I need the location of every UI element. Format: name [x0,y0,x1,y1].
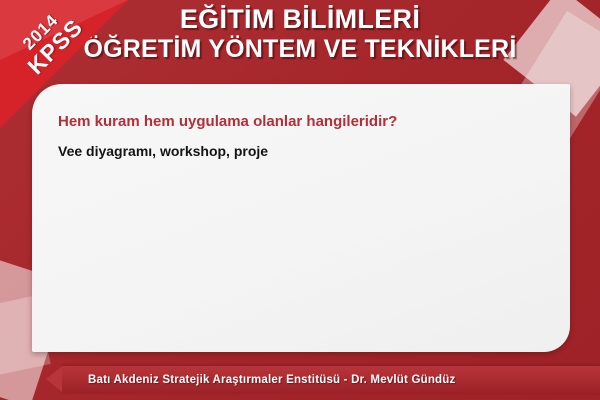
content-card-body: Hem kuram hem uygulama olanlar hangileri… [58,112,548,161]
corner-ribbon: 2014 KPSS [0,0,128,128]
footer-credit-text: Batı Akdeniz Stratejik Araştırmaler Enst… [88,374,455,386]
footer-bar: Batı Akdeniz Stratejik Araştırmaler Enst… [62,366,600,393]
slide-canvas: EĞİTİM BİLİMLERİ ÖĞRETİM YÖNTEM VE TEKNİ… [0,0,600,400]
answer-text: Vee diyagramı, workshop, proje [58,142,548,161]
question-text: Hem kuram hem uygulama olanlar hangileri… [58,112,548,132]
